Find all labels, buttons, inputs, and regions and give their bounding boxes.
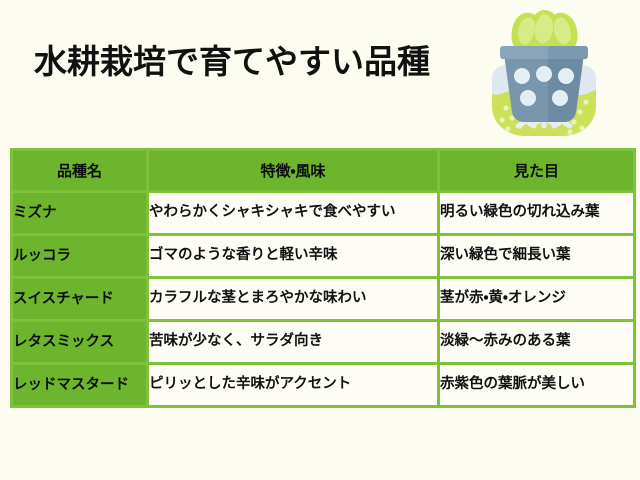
table-row: ミズナ やわらかくシャキシャキで食べやすい 明るい緑色の切れ込み葉 [13,193,633,233]
table-row: レタスミックス 苦味が少なく、サラダ向き 淡緑〜赤みのある葉 [13,322,633,362]
variety-feature: 苦味が少なく、サラダ向き [149,322,437,362]
variety-name: レタスミックス [13,322,146,362]
variety-look: 明るい緑色の切れ込み葉 [440,193,633,233]
variety-look: 淡緑〜赤みのある葉 [440,322,633,362]
variety-look: 深い緑色で細長い葉 [440,236,633,276]
variety-name: ミズナ [13,193,146,233]
table-header-row: 品種名 特徴・風味 見た目 [13,151,633,190]
variety-name: ルッコラ [13,236,146,276]
variety-feature: ゴマのような香りと軽い辛味 [149,236,437,276]
table-row: ルッコラ ゴマのような香りと軽い辛味 深い緑色で細長い葉 [13,236,633,276]
variety-look: 茎が赤・黄・オレンジ [440,279,633,319]
variety-name: スイスチャード [13,279,146,319]
header: 水耕栽培で育てやすい品種 [0,0,640,150]
variety-feature: ピリッとした辛味がアクセント [149,365,437,405]
variety-feature: カラフルな茎とまろやかな味わい [149,279,437,319]
variety-table: 品種名 特徴・風味 見た目 ミズナ やわらかくシャキシャキで食べやすい 明るい緑… [10,148,636,408]
column-header-feature: 特徴・風味 [149,151,437,190]
column-header-look: 見た目 [440,151,633,190]
column-header-name: 品種名 [13,151,146,190]
page-title: 水耕栽培で育てやすい品種 [34,44,430,80]
table-row: レッドマスタード ピリッとした辛味がアクセント 赤紫色の葉脈が美しい [13,365,633,405]
table-row: スイスチャード カラフルな茎とまろやかな味わい 茎が赤・黄・オレンジ [13,279,633,319]
variety-look: 赤紫色の葉脈が美しい [440,365,633,405]
variety-feature: やわらかくシャキシャキで食べやすい [149,193,437,233]
hydroponic-planter-illustration [478,8,610,144]
variety-table-container: 品種名 特徴・風味 見た目 ミズナ やわらかくシャキシャキで食べやすい 明るい緑… [10,148,630,408]
variety-name: レッドマスタード [13,365,146,405]
